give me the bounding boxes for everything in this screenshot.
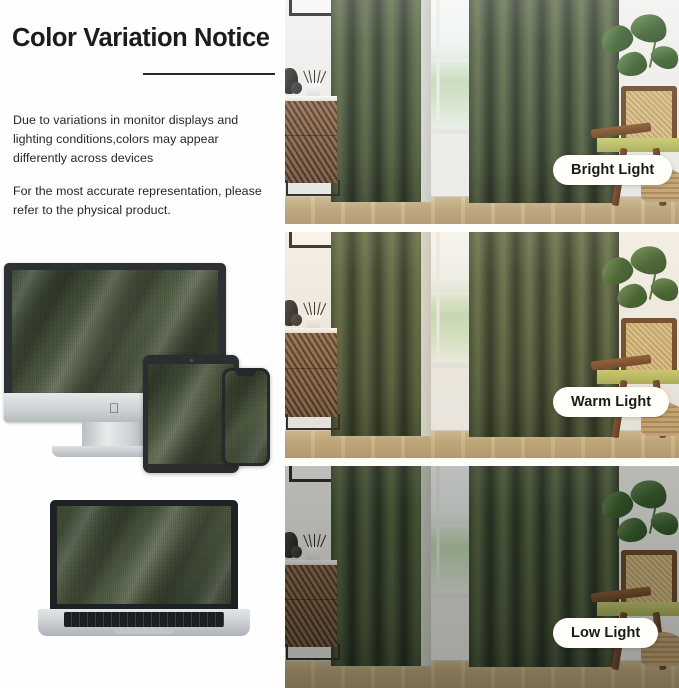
white-planter-pot: [306, 546, 321, 560]
plant-leaf: [616, 282, 648, 309]
lighting-comparison-gallery: Bright Light: [285, 0, 679, 688]
curtain-panel-left: [331, 0, 421, 202]
small-round-vase: [291, 314, 302, 326]
curtain-shading: [331, 0, 421, 202]
decorative-sticks: [308, 534, 321, 547]
plant-leaf: [647, 507, 679, 540]
fabric-swatch-texture: [225, 371, 267, 463]
iphone-screen: [225, 371, 267, 463]
curtain-shading: [331, 466, 421, 666]
wood-cabinet: [285, 328, 337, 430]
chair-cushion: [597, 138, 679, 152]
plant-leaf: [628, 476, 670, 512]
fiddle-leaf-fig-plant: [589, 234, 677, 330]
tablet-camera-icon: [190, 359, 193, 362]
page-title: Color Variation Notice: [12, 24, 280, 52]
plant-leaf: [616, 50, 648, 77]
iphone-mockup: [222, 368, 270, 466]
label-bright-light[interactable]: Bright Light: [553, 155, 672, 185]
imac-stand-neck: [82, 422, 148, 449]
cabinet-metal-legs: [286, 180, 340, 196]
title-underline-divider: [143, 73, 275, 75]
label-low-light[interactable]: Low Light: [553, 618, 658, 648]
label-warm-light[interactable]: Warm Light: [553, 387, 669, 417]
chair-cushion: [597, 602, 679, 616]
room-photo-warm[interactable]: Warm Light: [285, 232, 679, 458]
plant-leaf: [647, 41, 679, 74]
cabinet-slat-front: [285, 101, 337, 183]
room-photo-bright[interactable]: Bright Light: [285, 0, 679, 224]
color-variation-notice-page: Color Variation Notice Due to variations…: [0, 0, 679, 688]
small-round-vase: [291, 546, 302, 558]
window-mullion-vertical: [437, 0, 440, 134]
macbook-laptop-mockup: [38, 500, 250, 645]
phone-notch: [236, 371, 256, 376]
cabinet-slat-front: [285, 565, 337, 647]
room-scene: [285, 232, 679, 458]
fiddle-leaf-fig-plant: [589, 2, 677, 98]
cabinet-metal-legs: [286, 644, 340, 660]
small-round-vase: [291, 82, 302, 94]
curtain-shading: [331, 232, 421, 436]
plant-leaf: [628, 242, 670, 278]
notice-paragraph-1: Due to variations in monitor displays an…: [13, 111, 275, 168]
room-scene: [285, 0, 679, 224]
plant-leaf: [616, 516, 648, 543]
white-planter-pot: [306, 82, 321, 96]
laptop-screen: [57, 506, 231, 604]
room-photo-low[interactable]: Low Light: [285, 466, 679, 688]
decorative-sticks: [308, 70, 321, 83]
laptop-keyboard: [64, 612, 224, 627]
plant-leaf: [647, 273, 679, 306]
curtain-panel-left: [331, 232, 421, 436]
notice-paragraph-2: For the most accurate representation, pl…: [13, 182, 275, 220]
curtain-panel-left: [331, 466, 421, 666]
window-mullion-vertical: [437, 466, 440, 598]
cabinet-metal-legs: [286, 414, 340, 430]
wood-cabinet: [285, 96, 337, 196]
wood-cabinet: [285, 560, 337, 660]
chair-cushion: [597, 370, 679, 384]
decorative-sticks: [308, 302, 321, 315]
laptop-trackpad: [114, 628, 174, 634]
laptop-lid: [50, 500, 238, 610]
window-mullion-vertical: [437, 232, 440, 368]
apple-logo-icon: : [108, 402, 120, 415]
cabinet-slat-front: [285, 333, 337, 417]
fabric-swatch-texture: [57, 506, 231, 604]
white-planter-pot: [306, 314, 321, 328]
room-scene: [285, 466, 679, 688]
notice-column: Color Variation Notice Due to variations…: [0, 0, 285, 688]
plant-leaf: [628, 10, 670, 46]
